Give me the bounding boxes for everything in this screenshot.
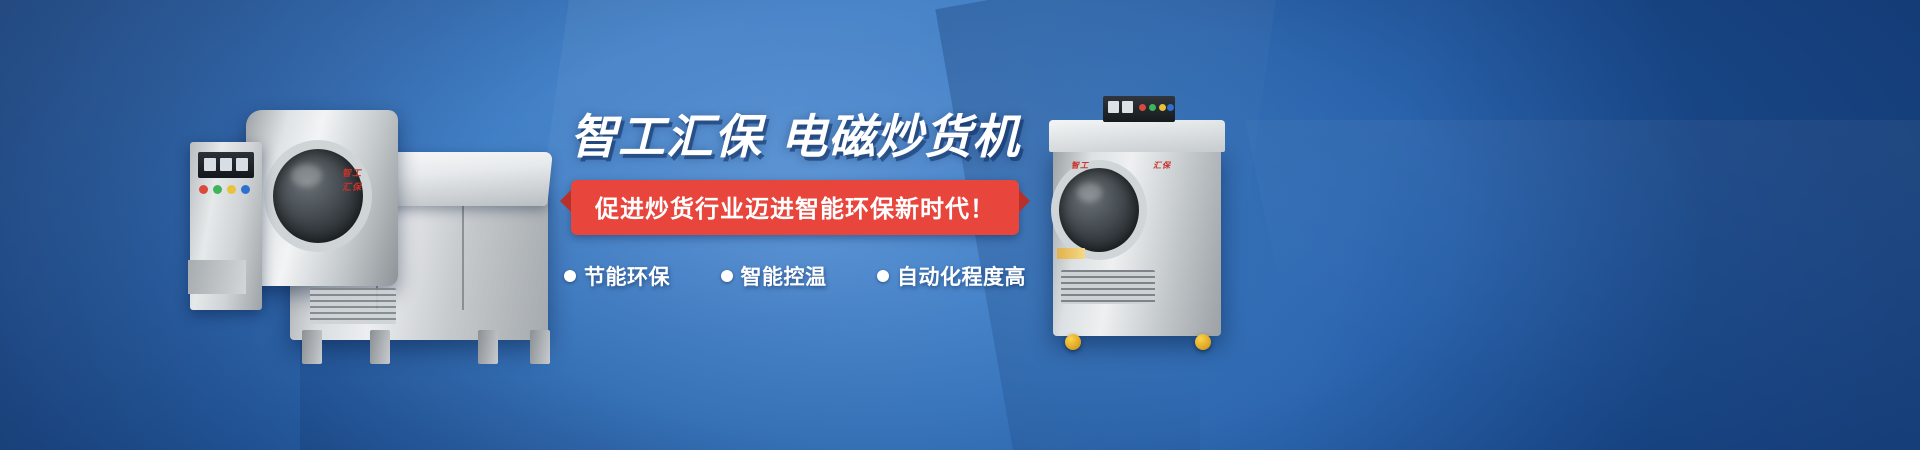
roaster-foot <box>302 330 322 364</box>
roaster-foot <box>530 330 550 364</box>
roaster-caster-wheel <box>1195 334 1211 350</box>
roaster-foot <box>370 330 390 364</box>
roaster-vent-grille <box>1061 270 1155 304</box>
promo-banner: 智工 汇保 智工汇保电磁炒货机 促进炒货行业迈进智能环保新时代！ <box>0 0 1920 450</box>
roaster-drum: 智工 汇保 <box>246 110 398 286</box>
bullet-dot-icon <box>564 270 576 282</box>
feature-item-3: 自动化程度高 <box>877 261 1026 291</box>
roaster-top-cover <box>1049 120 1225 152</box>
feature-label-3: 自动化程度高 <box>897 261 1026 291</box>
banner-tagline-ribbon: 促进炒货行业迈进智能环保新时代！ <box>571 180 1019 235</box>
roaster-vent-grille <box>310 288 396 324</box>
headline-product: 电磁炒货机 <box>780 110 1020 163</box>
banner-copy: 智工汇保电磁炒货机 促进炒货行业迈进智能环保新时代！ 节能环保 智能控温 自动化… <box>560 112 1030 291</box>
feature-item-2: 智能控温 <box>721 261 827 291</box>
brand-mark-right-1: 智工 <box>1071 160 1089 171</box>
roaster-foot <box>478 330 498 364</box>
roaster-caster-wheel <box>1065 334 1081 350</box>
banner-headline: 智工汇保电磁炒货机 <box>560 112 1030 162</box>
brand-mark-left-2: 汇保 <box>342 180 362 193</box>
control-display <box>1103 96 1175 122</box>
roaster-door-window <box>1051 160 1147 260</box>
control-cabinet-base <box>188 260 246 294</box>
feature-label-2: 智能控温 <box>741 261 827 291</box>
banner-feature-list: 节能环保 智能控温 自动化程度高 <box>560 261 1030 291</box>
brand-mark-right-2: 汇保 <box>1153 160 1171 171</box>
feature-label-1: 节能环保 <box>584 261 670 291</box>
control-display <box>198 152 254 178</box>
product-image-roaster-large: 智工 汇保 <box>178 92 568 362</box>
bullet-dot-icon <box>877 270 889 282</box>
product-image-roaster-small: 智工 汇保 <box>1035 98 1245 348</box>
headline-brand: 智工汇保 <box>570 110 762 163</box>
bullet-dot-icon <box>721 270 733 282</box>
control-button-row <box>199 185 255 197</box>
roaster-name-plate <box>1057 248 1085 259</box>
feature-item-1: 节能环保 <box>564 261 670 291</box>
brand-mark-left-1: 智工 <box>342 166 362 179</box>
roaster-door-window <box>264 140 372 252</box>
